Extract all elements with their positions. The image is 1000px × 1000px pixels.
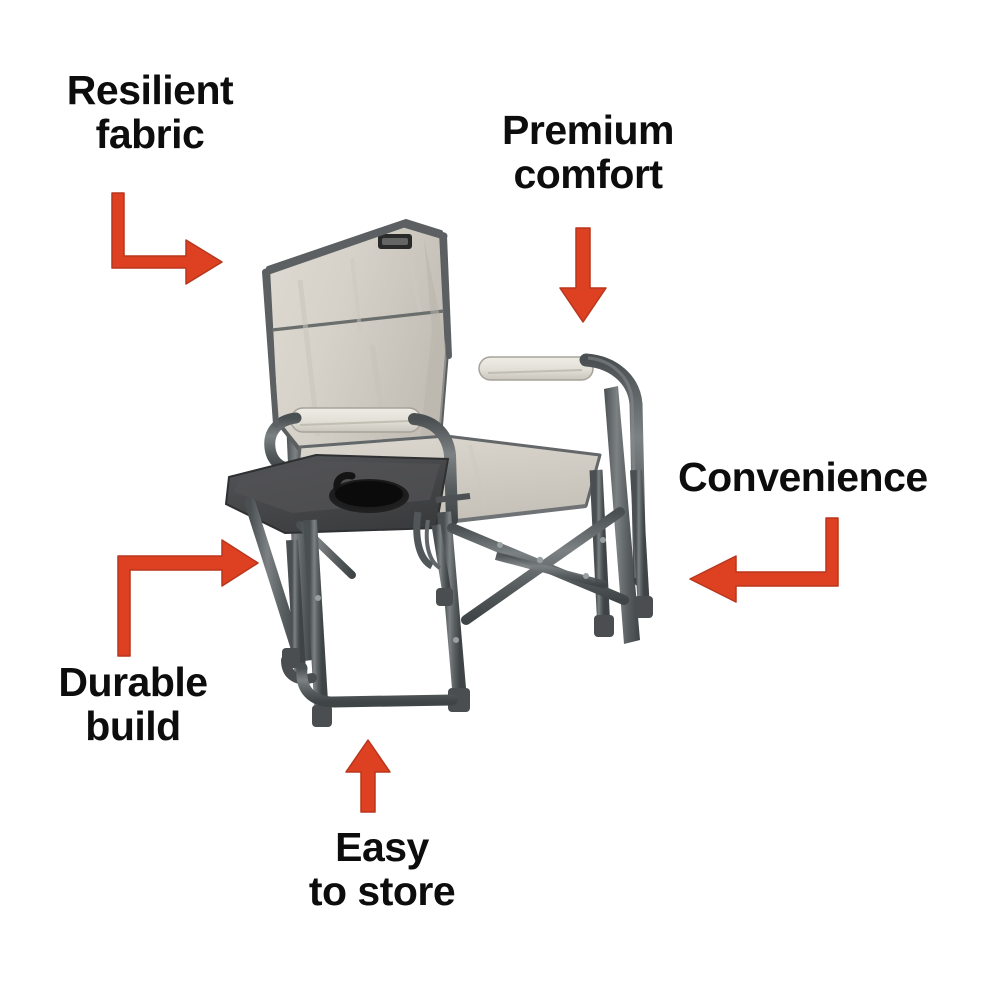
foot-cap: [594, 615, 614, 637]
callout-label-premium-comfort: Premium comfort: [468, 108, 708, 197]
callout-label-resilient-fabric: Resilient fabric: [30, 68, 270, 157]
center-rear-leg: [436, 512, 470, 712]
logo-badge: [378, 234, 412, 249]
foot-cap: [634, 596, 653, 618]
callout-label-durable-build: Durable build: [18, 660, 248, 749]
right-armrest: [479, 357, 593, 380]
callout-label-easy-to-store: Easy to store: [262, 825, 502, 914]
callout-label-convenience: Convenience: [678, 455, 978, 499]
foot-cap: [312, 705, 332, 727]
foot-cap: [282, 648, 300, 668]
side-table: [226, 455, 470, 533]
infographic-canvas: Resilient fabric Premium comfort Conveni…: [0, 0, 1000, 1000]
left-armrest: [291, 408, 421, 432]
